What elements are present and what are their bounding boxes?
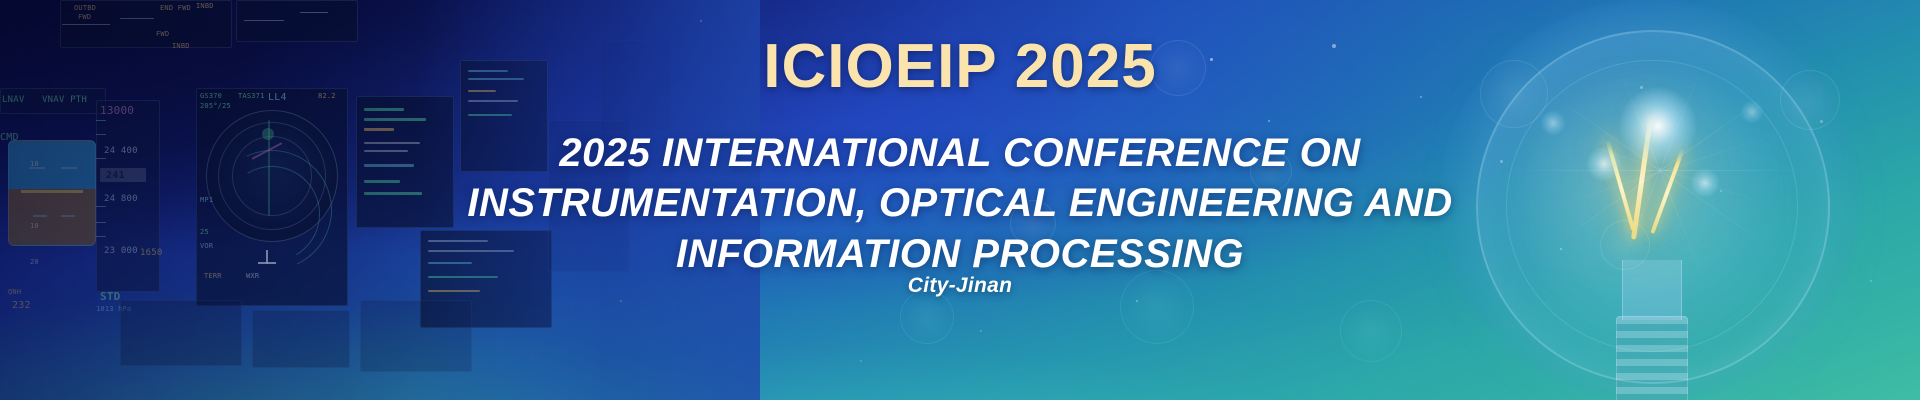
conference-subtitle: 2025 INTERNATIONAL CONFERENCE ON INSTRUM… bbox=[0, 128, 1920, 279]
conference-city: City-Jinan bbox=[0, 274, 1920, 298]
conference-banner: OUTBD FWD END FWD INBD FWD INBD LNAV VNA… bbox=[0, 0, 1920, 400]
subtitle-line-2: INSTRUMENTATION, OPTICAL ENGINEERING AND bbox=[0, 178, 1920, 228]
subtitle-line-3: INFORMATION PROCESSING bbox=[0, 229, 1920, 279]
banner-text-content: ICIOEIP 2025 2025 INTERNATIONAL CONFEREN… bbox=[0, 0, 1920, 400]
conference-title: ICIOEIP 2025 bbox=[0, 34, 1920, 100]
subtitle-line-1: 2025 INTERNATIONAL CONFERENCE ON bbox=[0, 128, 1920, 178]
